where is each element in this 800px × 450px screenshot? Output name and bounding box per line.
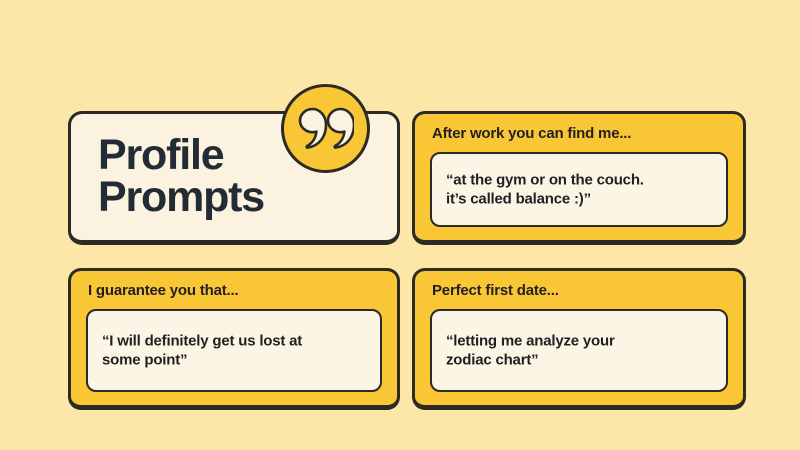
prompt-answer-box: “letting me analyze your zodiac chart” (430, 309, 728, 392)
prompt-card-after-work: After work you can find me... “at the gy… (412, 111, 746, 245)
prompt-card-first-date: Perfect first date... “letting me analyz… (412, 268, 746, 410)
prompt-answer-text: “at the gym or on the couch. it’s called… (446, 170, 716, 209)
prompt-label: I guarantee you that... (88, 282, 238, 299)
prompt-label: After work you can find me... (432, 125, 631, 142)
prompt-answer-text: “letting me analyze your zodiac chart” (446, 331, 716, 370)
prompt-answer-box: “I will definitely get us lost at some p… (86, 309, 382, 392)
prompt-answer-box: “at the gym or on the couch. it’s called… (430, 152, 728, 227)
prompt-label: Perfect first date... (432, 282, 559, 299)
profile-prompts-graphic: Profile Prompts After work you can find … (0, 0, 800, 450)
prompt-answer-text: “I will definitely get us lost at some p… (102, 331, 370, 370)
quote-marks-icon (281, 84, 370, 173)
prompt-card-guarantee: I guarantee you that... “I will definite… (68, 268, 400, 410)
page-title: Profile Prompts (98, 134, 264, 218)
